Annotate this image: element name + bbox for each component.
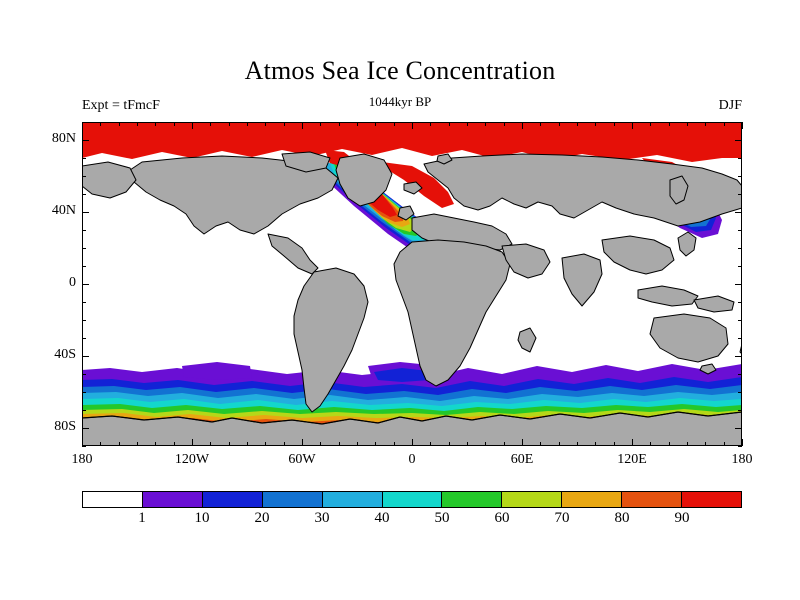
x-tick-mark xyxy=(467,442,468,446)
colorbar-tick-10: 10 xyxy=(195,510,210,527)
y-tick-mark-right xyxy=(738,302,742,303)
x-tick-mark-top xyxy=(174,122,175,126)
x-tick-mark-top xyxy=(394,122,395,126)
x-tick-mark xyxy=(174,442,175,446)
y-tick-mark-right xyxy=(738,230,742,231)
x-tick-mark xyxy=(137,442,138,446)
colorbar-tick-20: 20 xyxy=(255,510,270,527)
y-tick-mark-right xyxy=(738,392,742,393)
colorbar-tick-1: 1 xyxy=(138,510,146,527)
x-tick-mark xyxy=(394,442,395,446)
colorbar-band-7 xyxy=(501,492,561,507)
figure-canvas: Atmos Sea Ice Concentration Expt = tFmcF… xyxy=(0,0,800,600)
x-tick-mark-top xyxy=(724,122,725,126)
colorbar-band-0 xyxy=(83,492,142,507)
x-tick-mark-top xyxy=(302,122,303,129)
x-tick-mark-top xyxy=(229,122,230,126)
x-tick-mark-top xyxy=(357,122,358,126)
colorbar-band-8 xyxy=(561,492,621,507)
x-tick-mark-top xyxy=(284,122,285,126)
x-tick-mark xyxy=(705,442,706,446)
y-tick-mark xyxy=(82,158,86,159)
y-tick-mark-right xyxy=(738,158,742,159)
x-tick-mark-top xyxy=(467,122,468,126)
y-tick-mark xyxy=(82,428,89,429)
x-tick-mark xyxy=(650,442,651,446)
x-tick-mark-top xyxy=(650,122,651,126)
map-plot-area xyxy=(82,122,742,446)
y-tick-mark-right xyxy=(738,176,742,177)
y-tick-40s: 40S xyxy=(32,347,76,363)
x-tick-mark-top xyxy=(577,122,578,126)
x-tick-mark-top xyxy=(742,122,743,129)
x-tick-mark xyxy=(320,442,321,446)
x-tick-mark xyxy=(210,442,211,446)
x-tick-mark xyxy=(155,442,156,446)
x-tick-mark xyxy=(119,442,120,446)
x-tick-mark-top xyxy=(137,122,138,126)
y-tick-mark xyxy=(82,248,86,249)
y-tick-mark xyxy=(82,176,86,177)
y-tick-mark xyxy=(82,284,89,285)
y-tick-mark-right xyxy=(735,428,742,429)
colorbar-tick-60: 60 xyxy=(495,510,510,527)
x-tick-mark-top xyxy=(119,122,120,126)
y-tick-mark xyxy=(82,230,86,231)
x-tick-mark xyxy=(284,442,285,446)
colorbar-band-1 xyxy=(142,492,202,507)
y-tick-mark xyxy=(82,140,89,141)
x-tick-mark-top xyxy=(632,122,633,129)
y-tick-mark xyxy=(82,194,86,195)
y-tick-mark-right xyxy=(738,410,742,411)
x-tick-mark xyxy=(522,439,523,446)
y-axis-labels: 80N 40N 0 40S 80S xyxy=(20,122,76,446)
x-tick-mark-top xyxy=(522,122,523,129)
y-tick-mark-right xyxy=(738,374,742,375)
x-tick-mark-top xyxy=(155,122,156,126)
y-tick-mark xyxy=(82,302,86,303)
x-tick-0: 0 xyxy=(409,452,416,468)
y-tick-mark-right xyxy=(735,140,742,141)
x-tick-mark xyxy=(485,442,486,446)
y-tick-mark-right xyxy=(738,122,742,123)
y-tick-mark xyxy=(82,338,86,339)
y-tick-mark xyxy=(82,374,86,375)
x-tick-mark xyxy=(577,442,578,446)
colorbar-band-3 xyxy=(262,492,322,507)
colorbar-tick-40: 40 xyxy=(375,510,390,527)
colorbar-band-6 xyxy=(441,492,501,507)
y-tick-mark-right xyxy=(738,248,742,249)
y-tick-mark-right xyxy=(738,266,742,267)
y-tick-mark-right xyxy=(735,356,742,357)
world-map-svg xyxy=(82,122,742,446)
x-tick-mark-top xyxy=(82,122,83,129)
y-tick-mark-right xyxy=(738,320,742,321)
x-tick-mark xyxy=(247,442,248,446)
colorbar-tick-labels: 1102030405060708090 xyxy=(82,510,742,532)
y-tick-mark xyxy=(82,446,86,447)
x-tick-mark xyxy=(192,439,193,446)
x-tick-mark xyxy=(412,439,413,446)
x-tick-180w: 180 xyxy=(72,452,93,468)
x-tick-mark-top xyxy=(100,122,101,126)
x-tick-mark-top xyxy=(412,122,413,129)
x-tick-180e: 180 xyxy=(732,452,753,468)
x-tick-mark-top xyxy=(210,122,211,126)
y-tick-mark xyxy=(82,392,86,393)
x-tick-mark-top xyxy=(687,122,688,126)
colorbar-tick-80: 80 xyxy=(615,510,630,527)
x-tick-mark-top xyxy=(504,122,505,126)
x-tick-mark xyxy=(357,442,358,446)
x-tick-mark xyxy=(430,442,431,446)
x-tick-mark xyxy=(504,442,505,446)
x-tick-mark-top xyxy=(430,122,431,126)
x-tick-mark xyxy=(229,442,230,446)
colorbar-band-4 xyxy=(322,492,382,507)
x-tick-mark xyxy=(559,442,560,446)
colorbar-tick-70: 70 xyxy=(555,510,570,527)
x-tick-mark xyxy=(82,439,83,446)
x-axis-labels: 180 120W 60W 0 60E 120E 180 xyxy=(82,452,742,474)
y-tick-mark-right xyxy=(738,338,742,339)
y-tick-mark xyxy=(82,212,89,213)
x-tick-mark-top xyxy=(705,122,706,126)
y-tick-40n: 40N xyxy=(32,203,76,219)
x-tick-mark-top xyxy=(449,122,450,126)
x-tick-mark xyxy=(100,442,101,446)
colorbar-tick-30: 30 xyxy=(315,510,330,527)
x-tick-mark xyxy=(449,442,450,446)
x-tick-mark xyxy=(632,439,633,446)
x-tick-mark xyxy=(742,439,743,446)
x-tick-mark xyxy=(265,442,266,446)
y-tick-mark xyxy=(82,356,89,357)
y-tick-80n: 80N xyxy=(32,131,76,147)
x-tick-mark-top xyxy=(540,122,541,126)
colorbar-band-10 xyxy=(681,492,741,507)
x-tick-60w: 60W xyxy=(288,452,315,468)
x-tick-mark-top xyxy=(192,122,193,129)
x-tick-mark-top xyxy=(485,122,486,126)
colorbar-band-5 xyxy=(382,492,442,507)
x-tick-mark-top xyxy=(339,122,340,126)
colorbar-tick-50: 50 xyxy=(435,510,450,527)
x-tick-mark xyxy=(375,442,376,446)
x-tick-mark xyxy=(614,442,615,446)
page-title: Atmos Sea Ice Concentration xyxy=(0,56,800,86)
x-tick-mark-top xyxy=(247,122,248,126)
x-tick-mark xyxy=(669,442,670,446)
x-tick-mark xyxy=(302,439,303,446)
y-tick-mark xyxy=(82,122,86,123)
x-tick-mark-top xyxy=(559,122,560,126)
y-tick-80s: 80S xyxy=(32,419,76,435)
y-tick-mark xyxy=(82,266,86,267)
x-tick-120w: 120W xyxy=(175,452,209,468)
colorbar-band-9 xyxy=(621,492,681,507)
x-tick-mark xyxy=(724,442,725,446)
x-tick-mark-top xyxy=(375,122,376,126)
y-tick-mark xyxy=(82,320,86,321)
x-tick-60e: 60E xyxy=(511,452,534,468)
x-tick-120e: 120E xyxy=(617,452,647,468)
colorbar-tick-90: 90 xyxy=(675,510,690,527)
x-tick-mark-top xyxy=(595,122,596,126)
x-tick-mark-top xyxy=(614,122,615,126)
time-label: 1044kyr BP xyxy=(0,94,800,110)
x-tick-mark-top xyxy=(265,122,266,126)
y-tick-mark xyxy=(82,410,86,411)
y-tick-mark-right xyxy=(735,212,742,213)
x-tick-mark xyxy=(339,442,340,446)
x-tick-mark xyxy=(540,442,541,446)
x-tick-mark xyxy=(687,442,688,446)
y-tick-0: 0 xyxy=(32,275,76,291)
colorbar[interactable] xyxy=(82,491,742,508)
y-tick-mark-right xyxy=(735,284,742,285)
season-label: DJF xyxy=(719,98,742,114)
x-tick-mark xyxy=(595,442,596,446)
colorbar-band-2 xyxy=(202,492,262,507)
y-tick-mark-right xyxy=(738,194,742,195)
x-tick-mark-top xyxy=(320,122,321,126)
x-tick-mark-top xyxy=(669,122,670,126)
y-tick-mark-right xyxy=(738,446,742,447)
